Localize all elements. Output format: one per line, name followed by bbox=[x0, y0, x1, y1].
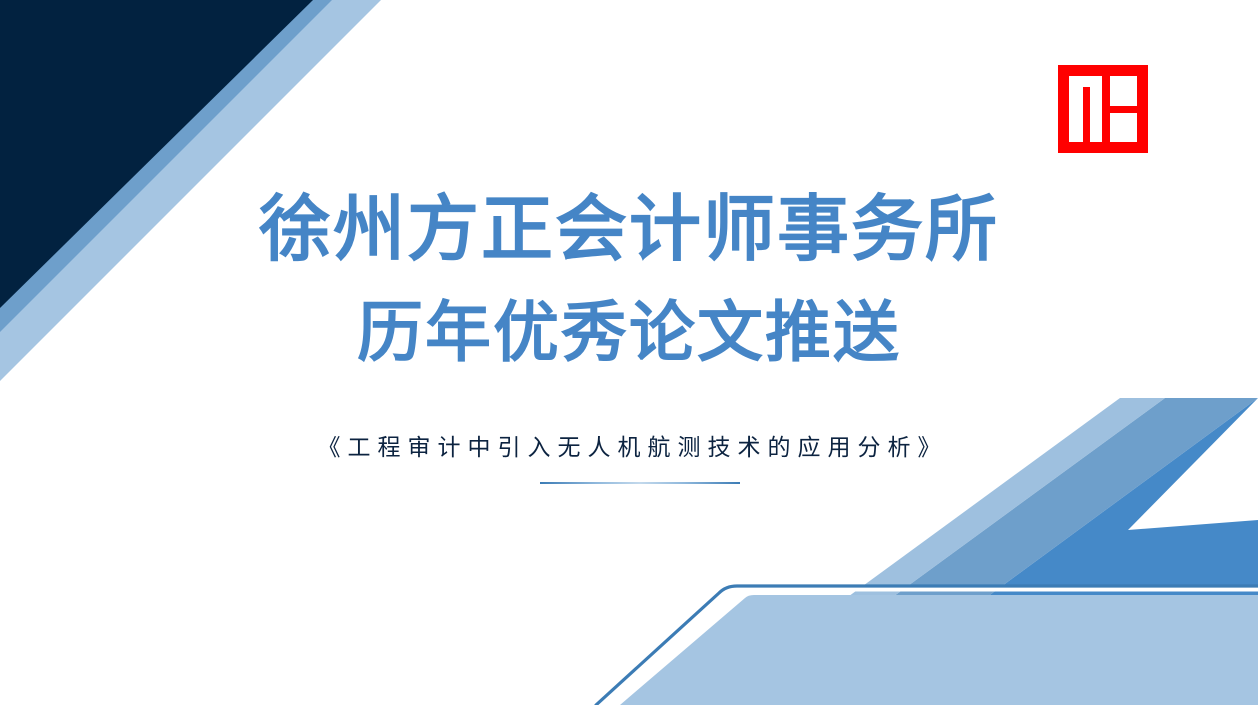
slide-subtitle: 《工程审计中引入无人机航测技术的应用分析》 bbox=[0, 428, 1258, 462]
title-divider bbox=[540, 482, 740, 484]
slide-title-line-1: 徐州方正会计师事务所 bbox=[0, 193, 1258, 265]
presentation-slide: 徐州方正会计师事务所 历年优秀论文推送 《工程审计中引入无人机航测技术的应用分析… bbox=[0, 0, 1258, 705]
title-text-block: 徐州方正会计师事务所 历年优秀论文推送 《工程审计中引入无人机航测技术的应用分析… bbox=[0, 0, 1258, 705]
slide-title-line-2: 历年优秀论文推送 bbox=[0, 300, 1258, 366]
